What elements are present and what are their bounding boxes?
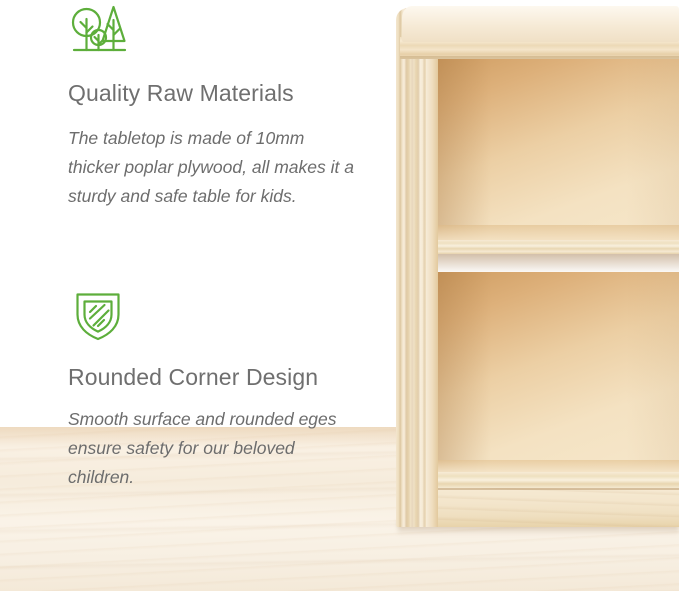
shelf-top-surface xyxy=(402,6,679,42)
shelf-kick-panel xyxy=(426,488,679,527)
shield-icon xyxy=(68,288,128,344)
trees-icon xyxy=(68,2,128,58)
feature-block-quality-raw-materials: Quality Raw Materials The tabletop is ma… xyxy=(68,2,368,211)
product-feature-graphic: Quality Raw Materials The tabletop is ma… xyxy=(0,0,679,591)
feature-description: Smooth surface and rounded eges ensure s… xyxy=(68,405,360,492)
kick-panel-grain xyxy=(426,488,679,527)
shelf-cavity-lower xyxy=(438,272,679,472)
bookshelf-product-image xyxy=(396,0,679,527)
feature-title: Rounded Corner Design xyxy=(68,364,368,391)
feature-title: Quality Raw Materials xyxy=(68,80,368,107)
shelf-middle-board-edge xyxy=(432,240,679,254)
shelf-base-board-edge xyxy=(426,472,679,488)
shelf-left-inner-edge xyxy=(424,46,438,527)
shelf-left-side-panel-plywood-edge xyxy=(396,8,426,527)
feature-text-column: Quality Raw Materials The tabletop is ma… xyxy=(0,0,392,591)
feature-block-rounded-corner-design: Rounded Corner Design Smooth surface and… xyxy=(68,288,368,492)
shelf-middle-board-top xyxy=(438,225,679,241)
shelf-middle-board-shadow xyxy=(438,254,679,274)
feature-description: The tabletop is made of 10mm thicker pop… xyxy=(68,124,360,211)
shelf-cavity-upper xyxy=(438,56,679,252)
